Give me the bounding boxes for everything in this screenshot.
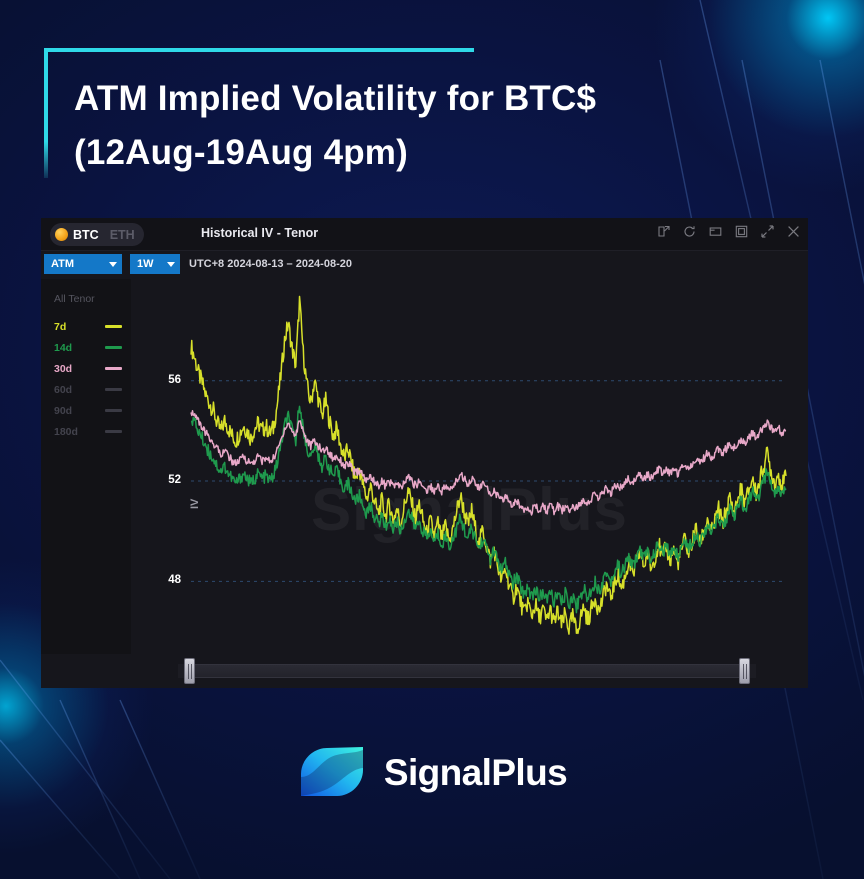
legend-item-7d[interactable]: 7d [54, 316, 126, 337]
external-link-icon[interactable] [657, 225, 670, 238]
legend-item-label: 7d [54, 321, 66, 333]
window-controls [657, 225, 800, 238]
panel-body: All Tenor 7d14d30d60d90d180d SignalPlus … [41, 279, 808, 688]
series-line-7d [191, 297, 786, 635]
signalplus-logo-icon [297, 744, 367, 802]
legend-item-swatch [105, 346, 122, 349]
panel-toolbar: ATM 1W UTC+8 2024-08-13 – 2024-08-20 [41, 251, 808, 279]
poster-title-block: ATM Implied Volatility for BTC$ (12Aug-1… [44, 48, 744, 181]
legend-item-label: 90d [54, 405, 72, 417]
close-icon[interactable] [787, 225, 800, 238]
range-slider-track[interactable] [189, 664, 745, 678]
title-rule-top [44, 48, 474, 52]
period-select[interactable]: 1W [130, 254, 180, 274]
restore-icon[interactable] [735, 225, 748, 238]
legend-rows: 7d14d30d60d90d180d [54, 316, 131, 442]
legend-item-label: 30d [54, 363, 72, 375]
legend-item-label: 14d [54, 342, 72, 354]
y-axis-title: IV [189, 499, 201, 509]
legend-item-swatch [105, 430, 122, 433]
strike-select-value: ATM [51, 258, 74, 270]
legend-item-90d[interactable]: 90d [54, 400, 126, 421]
asset-tab-eth[interactable]: ETH [110, 228, 135, 242]
chevron-down-icon [109, 262, 117, 267]
y-tick-52: 52 [151, 474, 181, 486]
chart-panel: BTC ETH Historical IV - Tenor [41, 218, 808, 688]
legend-item-180d[interactable]: 180d [54, 421, 126, 442]
range-slider[interactable] [41, 654, 808, 688]
legend-item-swatch [105, 325, 122, 328]
legend-item-14d[interactable]: 14d [54, 337, 126, 358]
legend-item-swatch [105, 388, 122, 391]
bitcoin-coin-icon [55, 228, 68, 241]
strike-select[interactable]: ATM [44, 254, 122, 274]
tenor-legend: All Tenor 7d14d30d60d90d180d [41, 279, 131, 654]
legend-item-swatch [105, 409, 122, 412]
legend-item-label: 180d [54, 426, 78, 438]
panel-header: BTC ETH Historical IV - Tenor [41, 218, 808, 251]
range-grip-right[interactable] [739, 658, 750, 684]
legend-item-30d[interactable]: 30d [54, 358, 126, 379]
refresh-icon[interactable] [683, 225, 696, 238]
legend-item-label: 60d [54, 384, 72, 396]
title-rule-left [44, 48, 48, 178]
asset-tab-btc[interactable]: BTC [73, 228, 99, 242]
legend-title: All Tenor [54, 293, 131, 305]
expand-icon[interactable] [761, 225, 774, 238]
page-title: ATM Implied Volatility for BTC$ (12Aug-1… [44, 48, 744, 181]
page-title-line2: (12Aug-19Aug 4pm) [74, 126, 744, 180]
period-select-value: 1W [137, 258, 154, 270]
page-title-line1: ATM Implied Volatility for BTC$ [74, 79, 596, 118]
date-range-text: UTC+8 2024-08-13 – 2024-08-20 [189, 258, 352, 270]
asset-toggle-group[interactable]: BTC ETH [50, 223, 144, 246]
chart-series [191, 297, 786, 635]
range-grip-left[interactable] [184, 658, 195, 684]
iv-line-chart [131, 279, 808, 688]
legend-item-60d[interactable]: 60d [54, 379, 126, 400]
plot-area: SignalPlus 485256 IV 2024-08-142024-08-1… [131, 279, 808, 688]
panel-title: Historical IV - Tenor [201, 226, 318, 240]
chevron-down-icon [167, 262, 175, 267]
y-tick-48: 48 [151, 574, 181, 586]
legend-item-swatch [105, 367, 122, 370]
brand-name: SignalPlus [384, 752, 567, 794]
y-tick-56: 56 [151, 374, 181, 386]
minimize-icon[interactable] [709, 225, 722, 238]
footer-brand: SignalPlus [0, 744, 864, 802]
series-line-30d [191, 411, 786, 515]
